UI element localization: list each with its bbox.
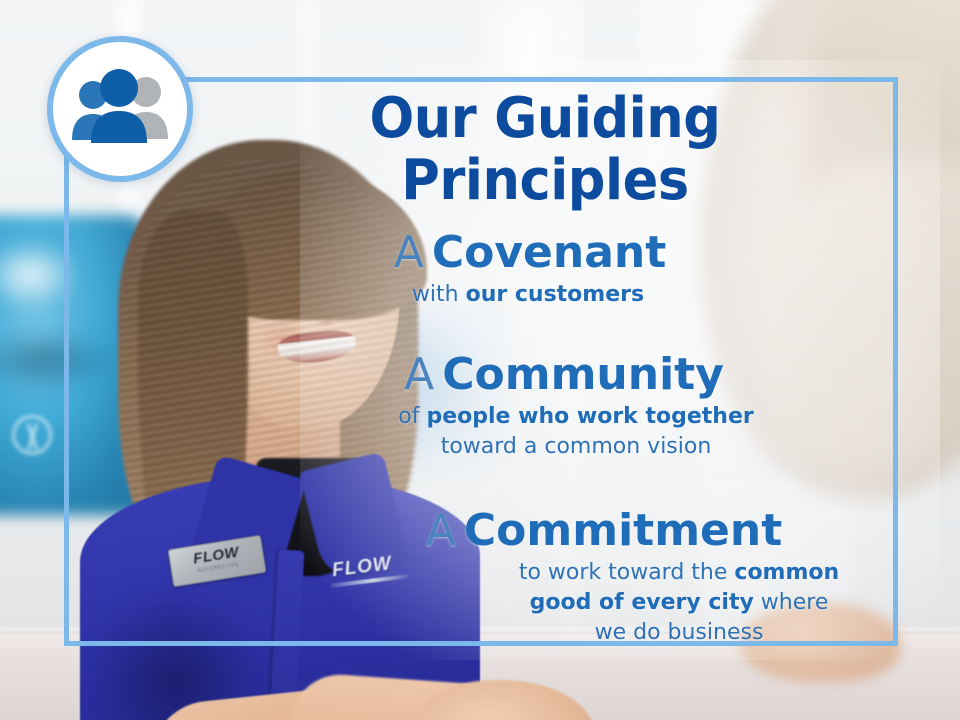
people-group-icon (64, 67, 176, 151)
principle-heading: ACovenant (200, 226, 860, 280)
subtext-line: with our customers (200, 280, 856, 310)
vw-logo-icon (12, 415, 52, 455)
subtext-line: of people who work together (262, 402, 890, 432)
guiding-principles-graphic: FLOW FLOW AUTOMOTIVE (0, 0, 960, 720)
people-group-badge (47, 36, 193, 182)
principle-article: A (394, 227, 424, 278)
subtext-line: toward a common vision (262, 432, 890, 462)
subtext-line: to work toward the common (468, 558, 890, 588)
principle-heading: ACommitment (318, 504, 890, 558)
principle-subtext: to work toward the common good of every … (318, 558, 890, 648)
principle-word: Covenant (432, 227, 666, 278)
principle-commitment: ACommitment to work toward the common go… (200, 504, 890, 648)
principle-covenant: ACovenant with our customers (200, 226, 890, 310)
principle-subtext: with our customers (200, 280, 860, 310)
subtext-line: good of every city where (468, 588, 890, 618)
principle-word: Community (442, 349, 724, 400)
principle-subtext: of people who work together toward a com… (238, 402, 890, 462)
principle-article: A (426, 505, 456, 556)
page-title: Our Guiding Principles (221, 88, 870, 212)
copy-block: Our Guiding Principles ACovenant with ou… (200, 88, 890, 648)
principle-community: ACommunity of people who work together t… (200, 348, 890, 462)
subtext-line: we do business (468, 618, 890, 648)
principle-heading: ACommunity (238, 348, 890, 402)
principle-article: A (404, 349, 434, 400)
principle-word: Commitment (464, 505, 782, 556)
